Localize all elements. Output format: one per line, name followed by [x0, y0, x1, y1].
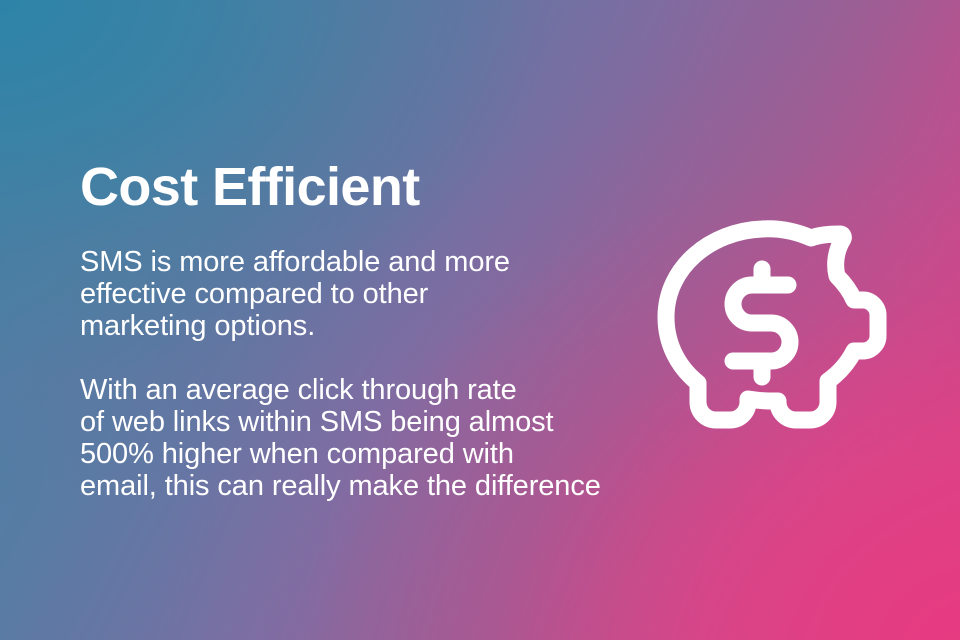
- page-title: Cost Efficient: [80, 158, 680, 216]
- piggy-bank-glyph: [645, 205, 905, 455]
- body-paragraph-2: With an average click through rate of we…: [80, 374, 680, 502]
- text-content-block: Cost Efficient SMS is more affordable an…: [80, 158, 680, 502]
- body-paragraph-1: SMS is more affordable and more effectiv…: [80, 246, 680, 342]
- piggy-bank-icon: [645, 205, 905, 455]
- slide-canvas: Cost Efficient SMS is more affordable an…: [0, 0, 960, 640]
